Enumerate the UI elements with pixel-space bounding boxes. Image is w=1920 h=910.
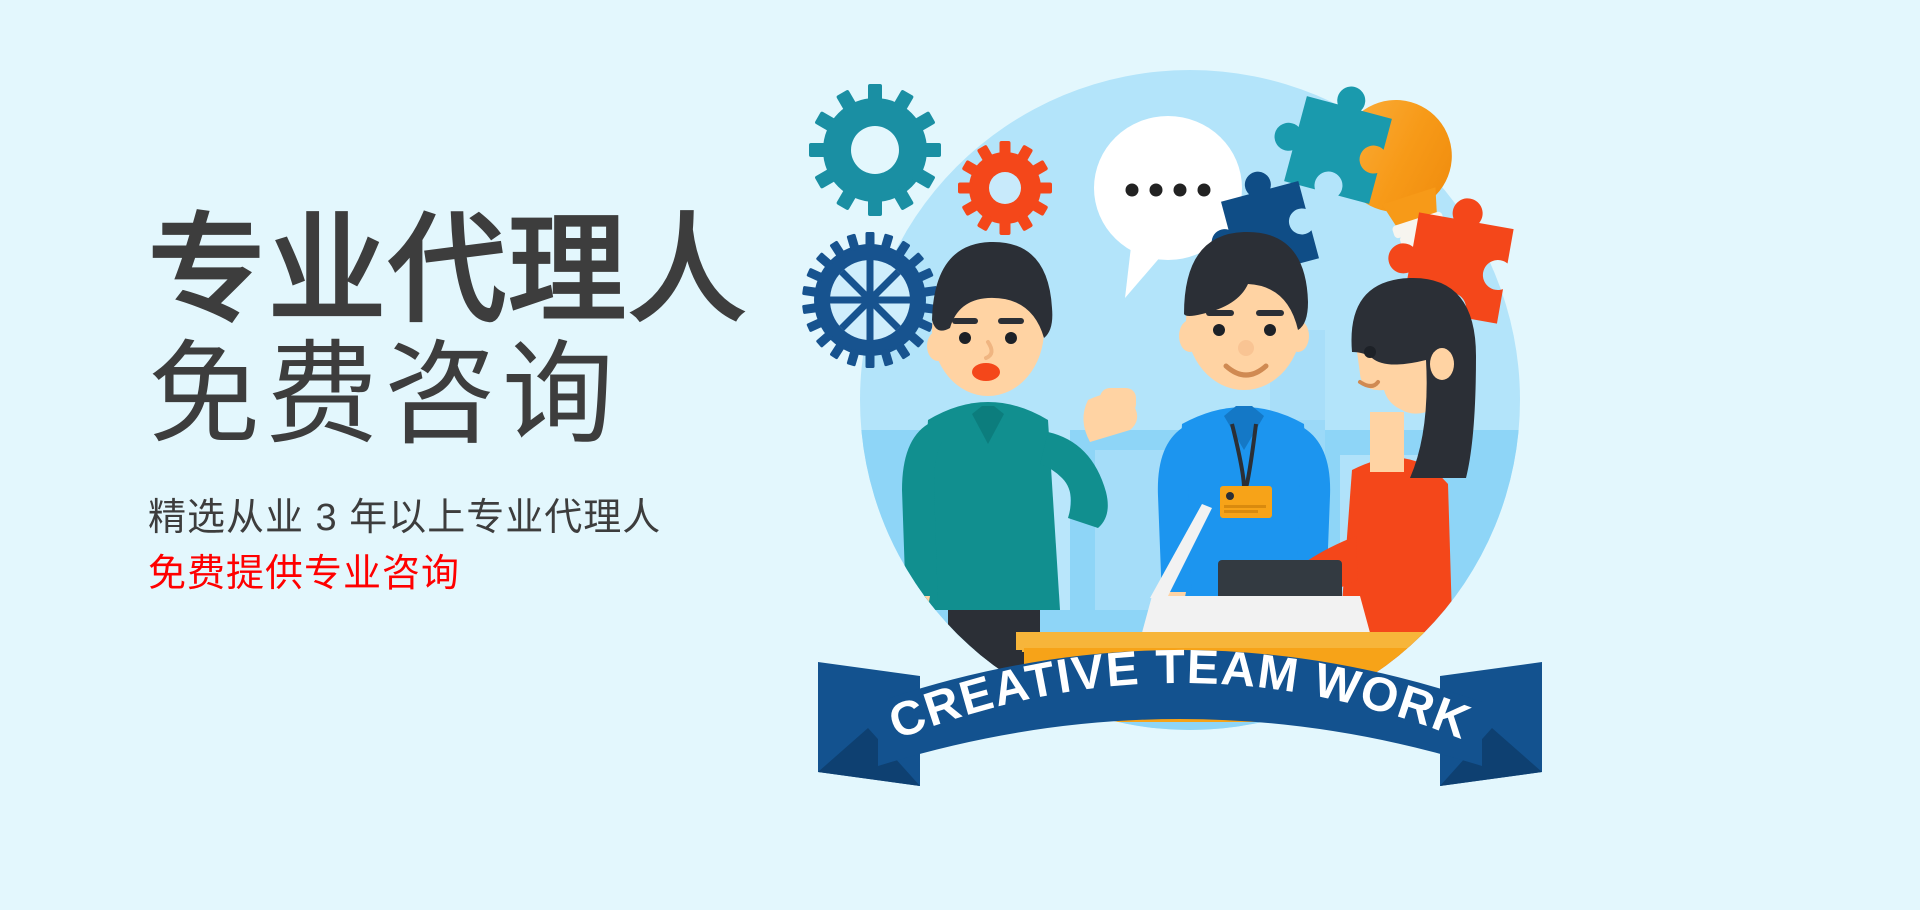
ribbon-banner: CREATIVE TEAM WORK [818,641,1542,786]
hero-subtitle-line-1: 精选从业 3 年以上专业代理人 [148,490,868,546]
hero-subtitle-line-2-accent: 免费提供专业咨询 [148,546,868,602]
hero-copy-block: 专业代理人 免费咨询 精选从业 3 年以上专业代理人 免费提供专业咨询 [148,212,868,602]
hero-title-line-2: 免费咨询 [148,330,868,460]
id-badge [1220,486,1272,518]
gear-teal-icon [809,84,941,216]
teamwork-illustration: CREATIVE TEAM WORK [800,0,1560,910]
hero-title-line-1: 专业代理人 [148,212,868,330]
hero-banner: 专业代理人 免费咨询 精选从业 3 年以上专业代理人 免费提供专业咨询 [0,0,1920,910]
hero-subtitle-group: 精选从业 3 年以上专业代理人 免费提供专业咨询 [148,490,868,602]
